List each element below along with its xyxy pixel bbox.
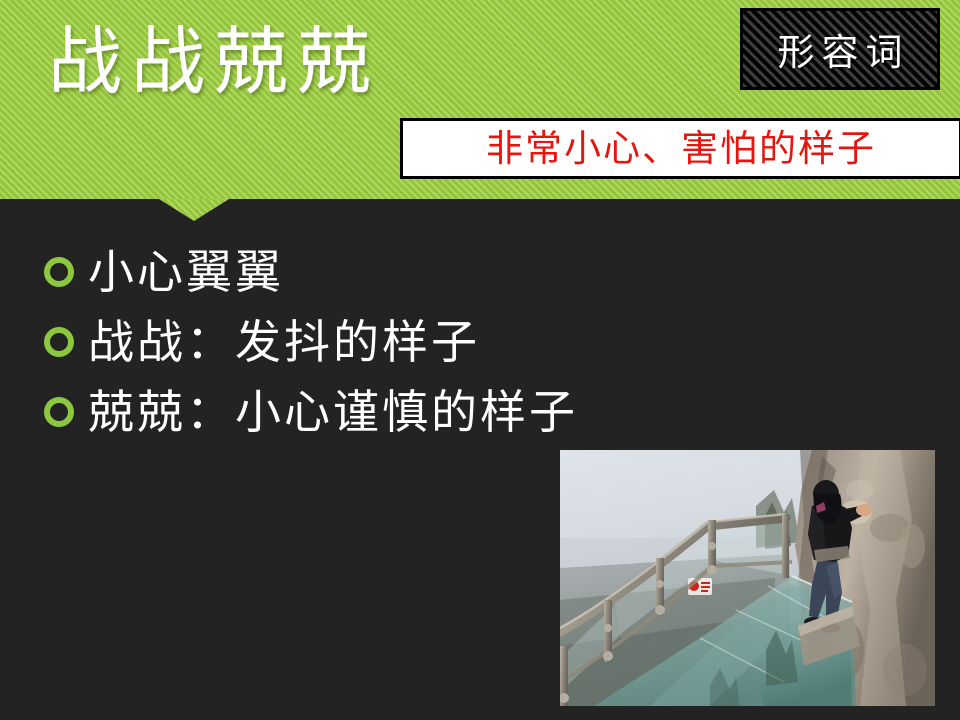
- presentation-slide: 战战兢兢 形容词 非常小心、害怕的样子 小心翼翼 战战：发抖的样子 兢兢：小心谨…: [0, 0, 960, 720]
- definition-bullet-list: 小心翼翼 战战：发抖的样子 兢兢：小心谨慎的样子: [30, 237, 730, 447]
- glass-skywalk-cliff-photo: [560, 450, 935, 706]
- part-of-speech-badge: 形容词: [740, 8, 940, 90]
- list-item: 兢兢：小心谨慎的样子: [30, 377, 730, 447]
- part-of-speech-badge-label: 形容词: [771, 22, 910, 76]
- list-item: 战战：发抖的样子: [30, 307, 730, 377]
- page-title: 战战兢兢: [48, 16, 380, 108]
- circle-outline-icon: [44, 327, 74, 357]
- circle-outline-icon: [44, 257, 74, 287]
- list-item-label: 兢兢：小心谨慎的样子: [88, 384, 578, 440]
- glass-skywalk-cliff-photo-graphic: [560, 450, 935, 706]
- list-item-label: 小心翼翼: [88, 244, 284, 300]
- list-item: 小心翼翼: [30, 237, 730, 307]
- list-item-label: 战战：发抖的样子: [88, 314, 480, 370]
- meaning-callout-box: 非常小心、害怕的样子: [400, 118, 960, 179]
- circle-outline-icon: [44, 397, 74, 427]
- meaning-callout-label: 非常小心、害怕的样子: [486, 128, 876, 170]
